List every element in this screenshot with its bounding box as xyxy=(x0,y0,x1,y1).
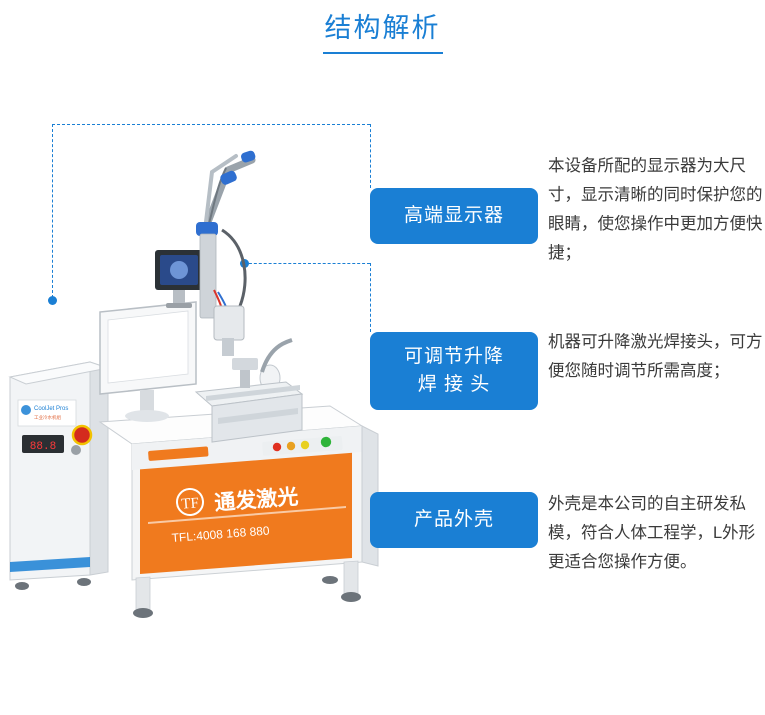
title-underline xyxy=(323,52,443,54)
hmi-monitor xyxy=(100,302,196,422)
callout-pill-weld-head-label-line1: 可调节升降 xyxy=(404,343,504,372)
svg-text:TF: TF xyxy=(181,495,200,512)
svg-text:88.8: 88.8 xyxy=(30,441,56,453)
laser-welding-machine-illustration: CoolJet Pros 工业冷水机组 88.8 xyxy=(0,110,400,620)
svg-text:CoolJet Pros: CoolJet Pros xyxy=(34,406,68,412)
chiller-unit: CoolJet Pros 工业冷水机组 88.8 xyxy=(10,362,108,590)
structure-analysis-page: 结构解析 CoolJet Pros 工业冷水机组 88.8 xyxy=(0,0,765,715)
callout-pill-display-label: 高端显示器 xyxy=(404,202,504,231)
callout-pill-weld-head-label-line2: 焊 接 头 xyxy=(404,371,504,400)
control-screen xyxy=(155,250,203,308)
callout-description-weld-head: 机器可升降激光焊接头，可方便您随时调节所需高度； xyxy=(548,328,765,386)
weld-head-assembly xyxy=(196,150,302,442)
page-title: 结构解析 xyxy=(0,6,765,45)
callout-pill-housing-label: 产品外壳 xyxy=(414,506,494,535)
callout-description-housing: 外壳是本公司的自主研发私模，符合人体工程学，L外形更适合您操作方便。 xyxy=(548,490,765,577)
callout-pill-weld-head[interactable]: 可调节升降 焊 接 头 xyxy=(370,332,538,410)
callout-pill-display[interactable]: 高端显示器 xyxy=(370,188,538,244)
callout-description-display: 本设备所配的显示器为大尺寸，显示清晰的同时保护您的眼睛，使您操作中更加方便快捷； xyxy=(548,152,765,268)
callout-pill-housing[interactable]: 产品外壳 xyxy=(370,492,538,548)
svg-text:工业冷水机组: 工业冷水机组 xyxy=(34,414,61,421)
